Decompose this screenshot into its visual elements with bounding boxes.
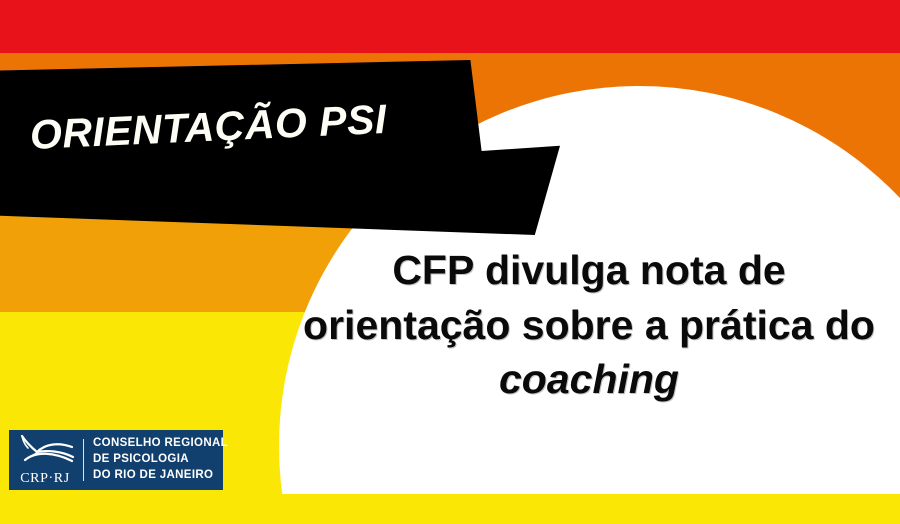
logo-text-line-1: CONSELHO REGIONAL bbox=[93, 436, 228, 452]
crp-rj-logo: CRP·RJ CONSELHO REGIONAL DE PSICOLOGIA D… bbox=[9, 430, 223, 490]
headline-line-2: orientação sobre a prática do bbox=[283, 298, 895, 353]
crp-rj-mark-label: CRP·RJ bbox=[20, 472, 70, 486]
logo-text: CONSELHO REGIONAL DE PSICOLOGIA DO RIO D… bbox=[93, 436, 228, 484]
crp-bird-book-icon: CRP·RJ bbox=[9, 432, 81, 488]
band-red bbox=[0, 0, 900, 53]
logo-divider bbox=[83, 439, 84, 481]
logo-text-line-3: DO RIO DE JANEIRO bbox=[93, 468, 228, 484]
headline-line-1: CFP divulga nota de bbox=[283, 243, 895, 298]
headline: CFP divulga nota de orientação sobre a p… bbox=[283, 243, 895, 407]
poster-canvas: ORIENTAÇÃO PSI CFP divulga nota de orien… bbox=[0, 0, 900, 524]
white-fill-right bbox=[639, 446, 900, 478]
logo-text-line-2: DE PSICOLOGIA bbox=[93, 452, 228, 468]
headline-line-3: coaching bbox=[283, 352, 895, 407]
band-yellow-bottom bbox=[0, 494, 900, 524]
